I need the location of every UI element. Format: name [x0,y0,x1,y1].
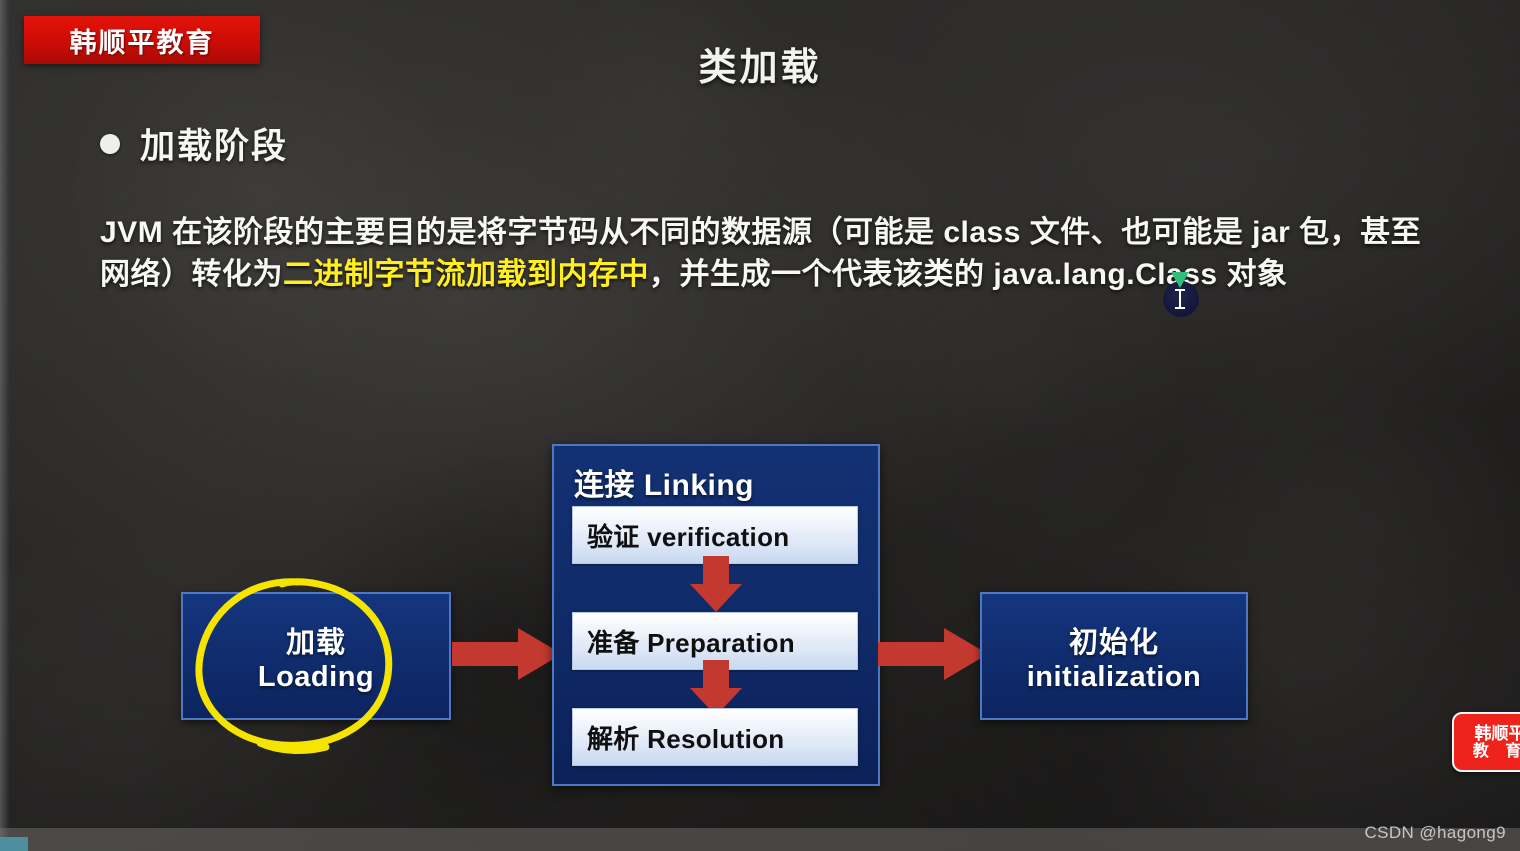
node-loading-cn: 加载 [286,619,346,661]
arrow-stem [452,642,524,666]
cursor-i-beam [1179,289,1181,309]
node-loading-en: Loading [258,661,374,694]
node-initialization-cn: 初始化 [1069,619,1159,661]
bullet-heading-label: 加载阶段 [140,118,288,169]
body-text-highlight: 二进制字节流加载到内存中 [283,258,649,291]
arrow-stem [703,660,729,690]
diagram-node-resolution[interactable]: 解析 Resolution [572,708,858,766]
slide-canvas: 韩顺平教育 类加载 加载阶段 JVM 在该阶段的主要目的是将字节码从不同的数据源… [0,0,1520,851]
verification-label: 验证 verification [573,517,789,554]
bottom-foreground-band [0,811,1520,851]
corner-logo-line1: 韩顺平 [1475,724,1520,743]
arrow-stem [878,642,950,666]
cursor-arrow-tip [1171,272,1189,288]
arrow-stem [703,556,729,586]
page-title: 类加载 [0,36,1520,91]
resolution-label: 解析 Resolution [573,719,784,756]
left-edge-highlight [0,0,9,851]
arrow-linking-to-initialization-icon [878,628,988,680]
corner-logo-line2: 教 育 [1473,743,1520,761]
linking-panel-title: 连接 Linking [574,460,754,504]
diagram-node-loading[interactable]: 加载 Loading [181,592,451,720]
csdn-watermark: CSDN @hagong9 [1364,823,1506,843]
arrow-head [690,584,742,612]
body-paragraph: JVM 在该阶段的主要目的是将字节码从不同的数据源（可能是 class 文件、也… [100,212,1450,296]
mouse-cursor-icon [1163,281,1199,317]
preparation-label: 准备 Preparation [573,623,795,660]
bullet-heading: 加载阶段 [100,118,288,169]
arrow-loading-to-linking-icon [452,628,562,680]
diagram-panel-linking[interactable]: 连接 Linking 验证 verification 准备 Preparatio… [552,444,880,786]
bullet-dot-icon [100,134,120,154]
node-initialization-en: initialization [1027,661,1202,694]
corner-watermark-logo: 韩顺平 教 育 [1452,712,1520,772]
diagram-node-initialization[interactable]: 初始化 initialization [980,592,1248,720]
arrow-verification-to-preparation-icon [690,556,742,612]
bottom-left-teal-chip [0,837,28,851]
